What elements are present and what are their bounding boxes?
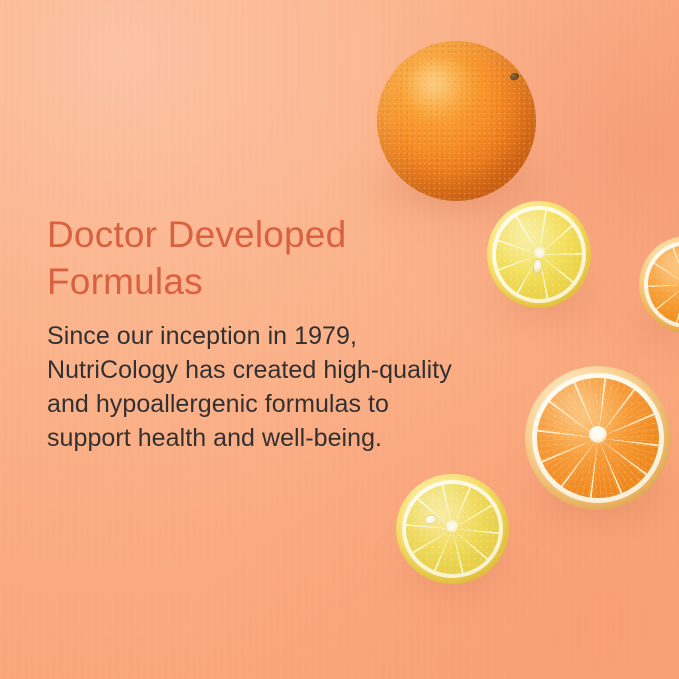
body-paragraph: Since our inception in 1979, NutriCology… xyxy=(47,305,567,455)
promo-banner: Doctor Developed Formulas Since our ince… xyxy=(0,0,679,679)
lemon-slice-lower xyxy=(396,474,509,584)
whole-orange-highlight xyxy=(406,60,479,121)
page-title: Doctor Developed Formulas xyxy=(47,211,567,305)
lemon-slice-lower-gloss xyxy=(396,474,509,584)
whole-orange xyxy=(377,41,536,201)
copy-block: Doctor Developed Formulas Since our ince… xyxy=(47,211,567,455)
